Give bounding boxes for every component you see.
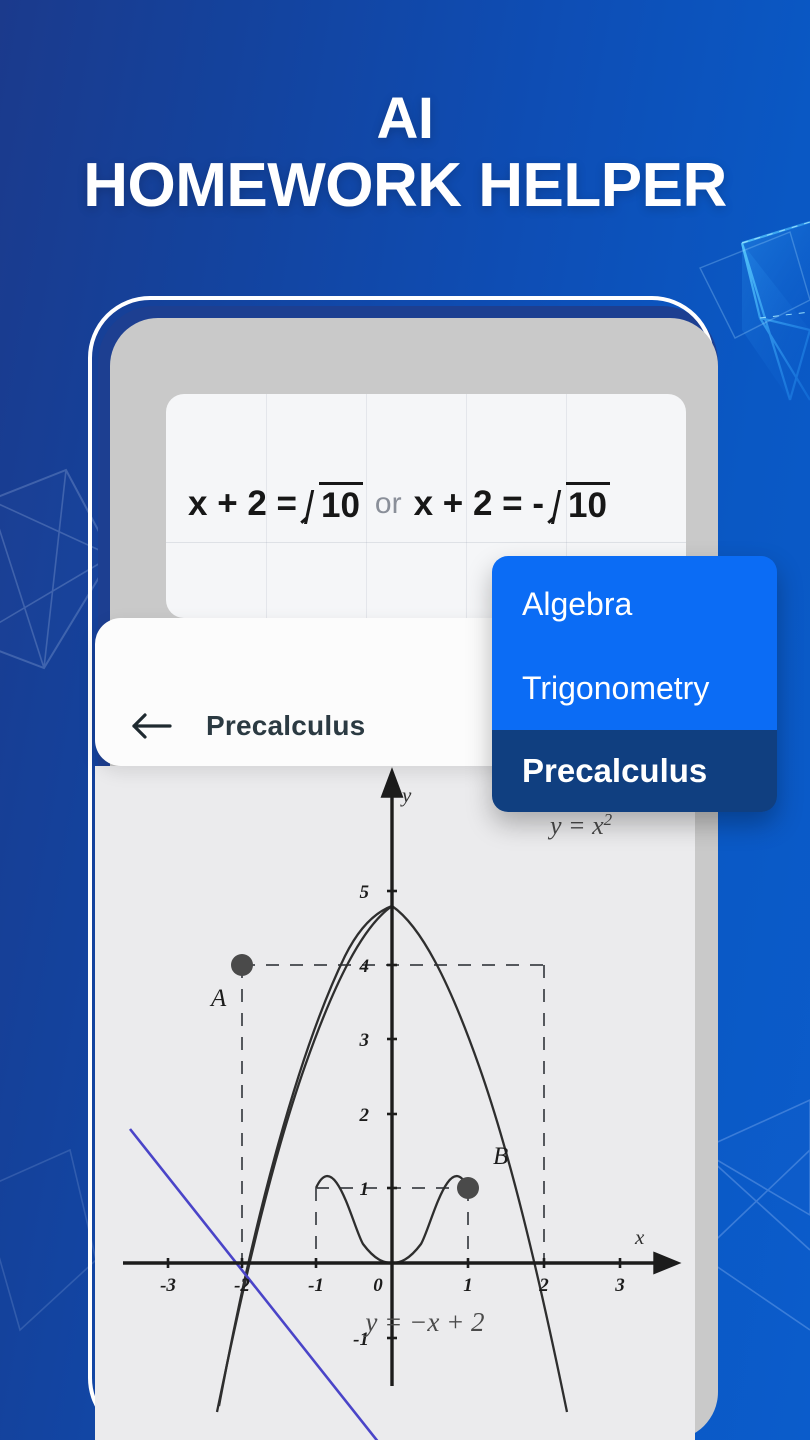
dropdown-item-algebra[interactable]: Algebra bbox=[492, 556, 777, 646]
y-tick-2: 2 bbox=[359, 1105, 370, 1126]
function-graph: x y -3 -2 -1 0 1 2 3 5 4 bbox=[95, 766, 695, 1440]
y-tick-3: 3 bbox=[359, 1030, 370, 1051]
subject-dropdown[interactable]: Algebra Trigonometry Precalculus bbox=[492, 556, 777, 812]
y-axis-label: y bbox=[400, 783, 412, 807]
point-A-marker bbox=[231, 954, 253, 976]
y-tick-1: 1 bbox=[360, 1179, 370, 1200]
equation-right-lhs: x + 2 = - bbox=[414, 484, 544, 524]
linear-function-line bbox=[130, 1129, 663, 1440]
sqrt-icon-right: 10 bbox=[549, 482, 610, 526]
page-title: AI HOMEWORK HELPER bbox=[0, 88, 810, 222]
x-tick-3: 3 bbox=[614, 1275, 625, 1296]
x-tick--3: -3 bbox=[160, 1275, 176, 1296]
dropdown-item-label: Algebra bbox=[522, 586, 632, 623]
equation-display: x + 2 = 10 or x + 2 = - 10 bbox=[188, 482, 676, 526]
x-axis-label: x bbox=[634, 1225, 645, 1249]
x-tick--1: -1 bbox=[308, 1275, 324, 1296]
graph-axes bbox=[123, 772, 677, 1386]
screen-title: Precalculus bbox=[206, 710, 365, 742]
equation-left-lhs: x + 2 = bbox=[188, 484, 297, 524]
y-tick-5: 5 bbox=[360, 882, 370, 903]
headline-line-1: AI bbox=[0, 88, 810, 150]
point-B-label: B bbox=[493, 1143, 508, 1170]
radicand-left: 10 bbox=[319, 482, 363, 526]
x-tick--2: -2 bbox=[234, 1275, 250, 1296]
headline-line-2: HOMEWORK HELPER bbox=[0, 150, 810, 222]
polygon-bottom-left-icon bbox=[0, 1150, 96, 1330]
back-arrow-icon[interactable] bbox=[130, 711, 174, 741]
point-A-label: A bbox=[209, 985, 227, 1012]
sqrt-icon-left: 10 bbox=[302, 482, 363, 526]
dropdown-item-precalculus[interactable]: Precalculus bbox=[492, 730, 777, 812]
y-tick-4: 4 bbox=[359, 956, 370, 977]
polyhedron-top-right-icon bbox=[742, 222, 810, 400]
equation-conjunction: or bbox=[375, 487, 402, 521]
graph-panel: x y -3 -2 -1 0 1 2 3 5 4 bbox=[95, 766, 695, 1440]
x-tick-1: 1 bbox=[463, 1275, 473, 1296]
dropdown-item-label: Trigonometry bbox=[522, 670, 709, 707]
annotation-parabola-equation: y = x2 bbox=[547, 810, 613, 840]
radicand-right: 10 bbox=[566, 482, 610, 526]
dropdown-item-trigonometry[interactable]: Trigonometry bbox=[492, 646, 777, 730]
parabola-curve bbox=[211, 1080, 385, 1411]
dropdown-item-label: Precalculus bbox=[522, 752, 707, 790]
x-tick-2: 2 bbox=[538, 1275, 549, 1296]
x-tick-0: 0 bbox=[373, 1275, 383, 1296]
annotation-line-equation: y = −x + 2 bbox=[362, 1307, 484, 1337]
point-B-marker bbox=[457, 1177, 479, 1199]
